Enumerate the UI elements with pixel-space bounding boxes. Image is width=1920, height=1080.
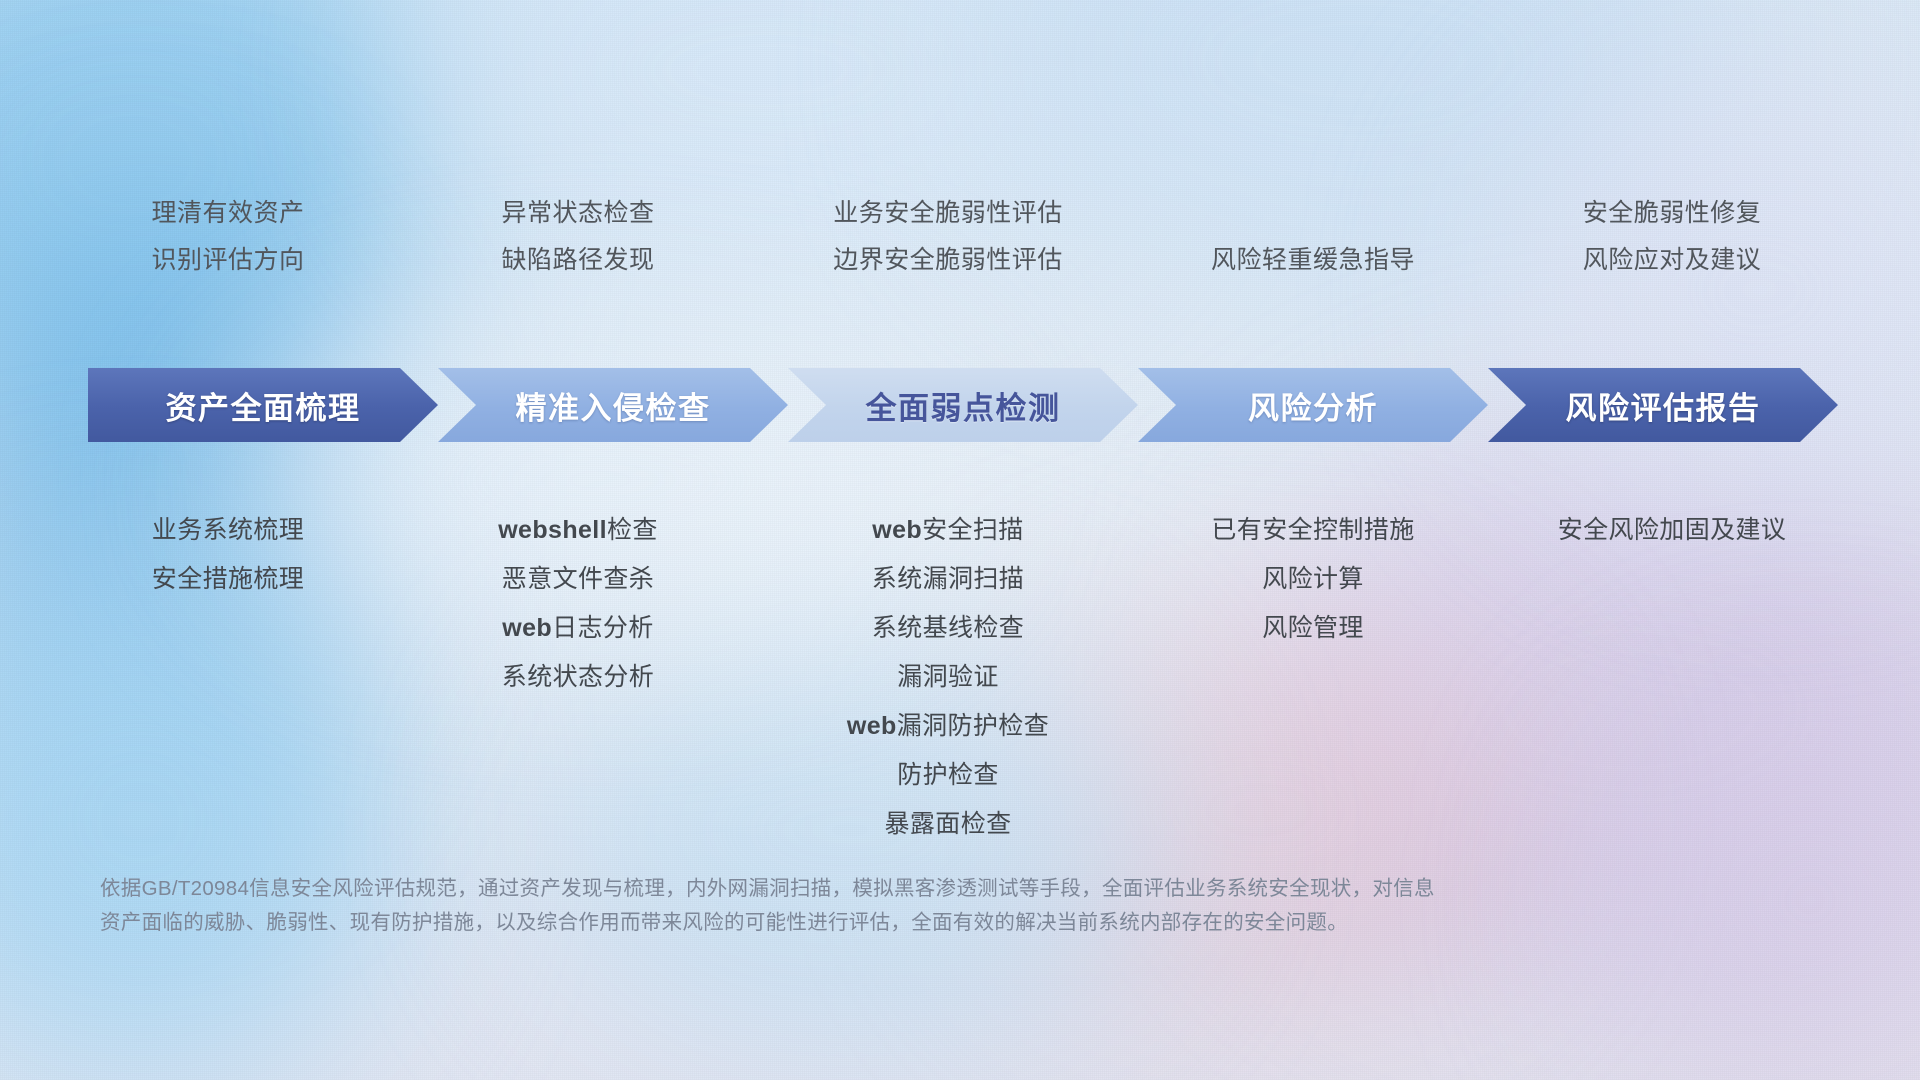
activity-item: 安全风险加固及建议 [1558, 518, 1787, 543]
activity-item: 系统状态分析 [498, 665, 658, 690]
chevron-stage-3[interactable]: 全面弱点检测 [788, 368, 1138, 442]
outcome-item: 异常状态检查 [501, 201, 654, 226]
activity-list-stage-5: 安全风险加固及建议 [1558, 518, 1787, 567]
activity-list-stage-3: web安全扫描系统漏洞扫描系统基线检查漏洞验证web漏洞防护检查防护检查暴露面检… [847, 518, 1049, 861]
activity-list-stage-2: webshell检查恶意文件查杀web日志分析系统状态分析 [498, 518, 658, 714]
activity-item: 防护检查 [847, 763, 1049, 788]
activity-item: 系统基线检查 [847, 616, 1049, 641]
chevron-band: 资产全面梳理精准入侵检查全面弱点检测风险分析风险评估报告 [88, 368, 1838, 442]
outcome-item: 缺陷路径发现 [501, 248, 654, 273]
outcome-item: 安全脆弱性修复 [1583, 201, 1762, 226]
outcome-item: 理清有效资产 [151, 201, 304, 226]
footnote-line-2: 资产面临的威胁、脆弱性、现有防护措施，以及综合作用而带来风险的可能性进行评估，全… [100, 906, 1600, 940]
chevron-label: 精准入侵检查 [516, 383, 711, 428]
activity-list-stage-4: 已有安全控制措施风险计算风险管理 [1211, 518, 1414, 665]
activity-item: web安全扫描 [847, 518, 1049, 543]
outcome-item: 边界安全脆弱性评估 [833, 248, 1063, 273]
activity-item: 安全措施梳理 [152, 567, 304, 592]
chevron-stage-5[interactable]: 风险评估报告 [1488, 368, 1838, 442]
footnote-line-1: 依据GB/T20984信息安全风险评估规范，通过资产发现与梳理，内外网漏洞扫描，… [100, 872, 1600, 906]
chevron-stage-4[interactable]: 风险分析 [1138, 368, 1488, 442]
outcome-item: 业务安全脆弱性评估 [833, 201, 1063, 226]
activity-item: 风险管理 [1211, 616, 1414, 641]
activity-item: 风险计算 [1211, 567, 1414, 592]
activity-list-stage-1: 业务系统梳理安全措施梳理 [152, 518, 304, 616]
activity-item: web日志分析 [498, 616, 658, 641]
outcome-item: 风险应对及建议 [1583, 248, 1762, 273]
chevron-stage-2[interactable]: 精准入侵检查 [438, 368, 788, 442]
outcome-item: 风险轻重缓急指导 [1211, 248, 1415, 273]
outcome-item: 识别评估方向 [151, 248, 304, 273]
activity-item: 已有安全控制措施 [1211, 518, 1414, 543]
activity-item: web漏洞防护检查 [847, 714, 1049, 739]
activity-item: 漏洞验证 [847, 665, 1049, 690]
footnote: 依据GB/T20984信息安全风险评估规范，通过资产发现与梳理，内外网漏洞扫描，… [100, 872, 1600, 940]
activity-item: 业务系统梳理 [152, 518, 304, 543]
activity-item: 恶意文件查杀 [498, 567, 658, 592]
chevron-label: 全面弱点检测 [866, 383, 1061, 428]
chevron-stage-1[interactable]: 资产全面梳理 [88, 368, 438, 442]
chevron-label: 资产全面梳理 [166, 383, 361, 428]
activity-item: 暴露面检查 [847, 812, 1049, 837]
process-diagram: 理清有效资产识别评估方向异常状态检查缺陷路径发现业务安全脆弱性评估边界安全脆弱性… [0, 0, 1920, 1080]
activity-item: webshell检查 [498, 518, 658, 543]
chevron-label: 风险评估报告 [1566, 383, 1761, 428]
chevron-label: 风险分析 [1248, 383, 1378, 428]
activity-item: 系统漏洞扫描 [847, 567, 1049, 592]
